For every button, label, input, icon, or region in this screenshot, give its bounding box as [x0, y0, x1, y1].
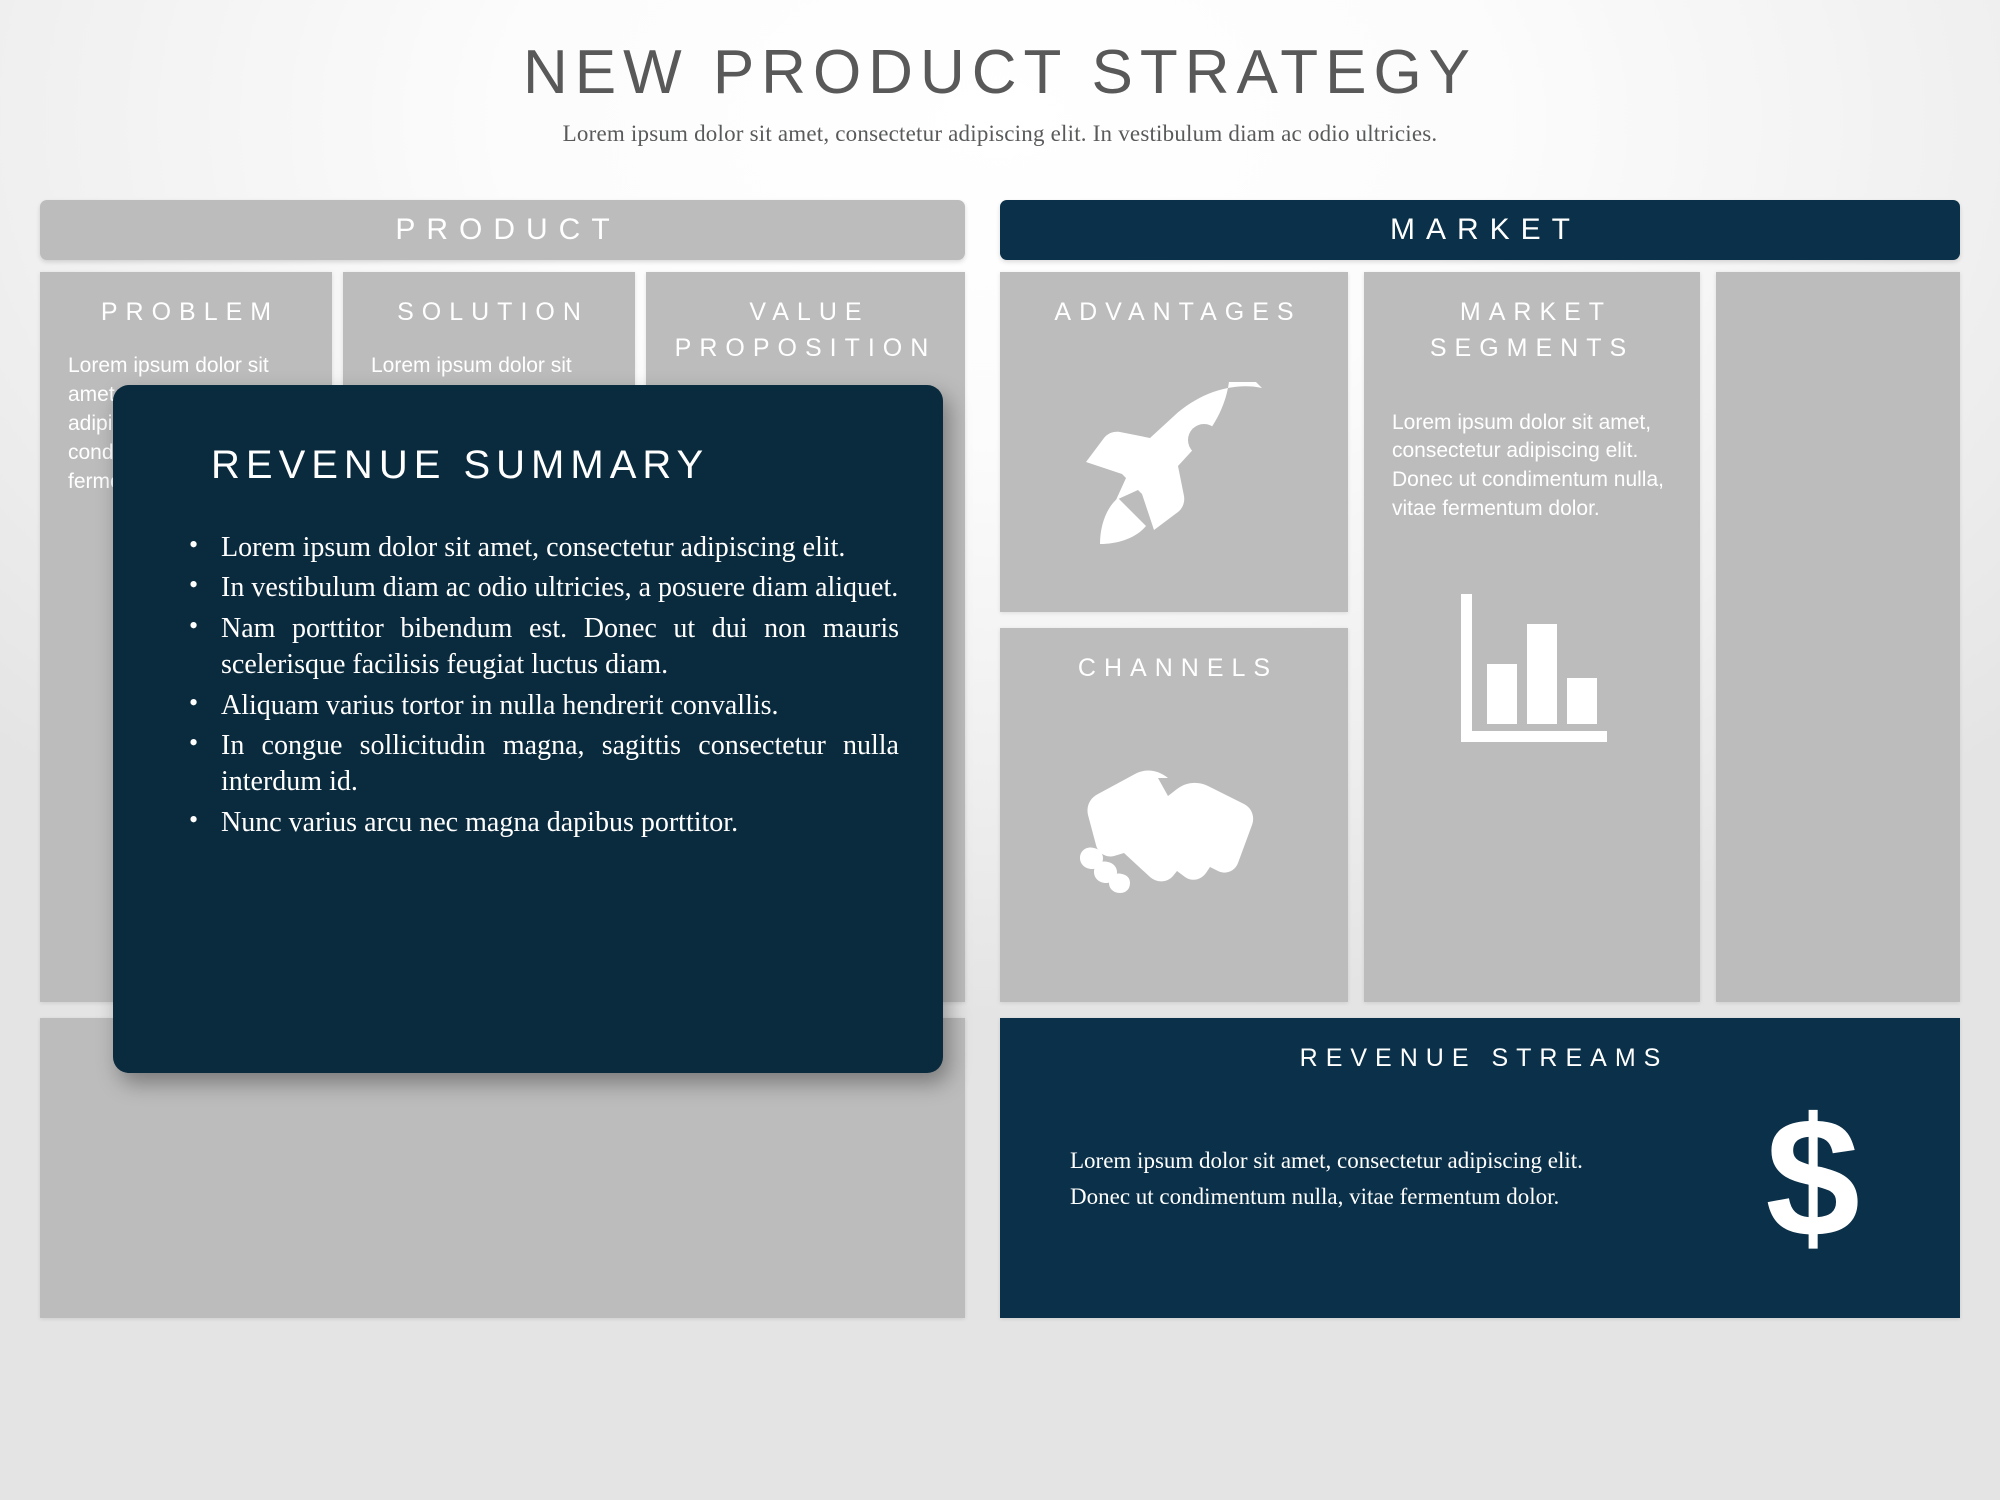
list-item: In vestibulum diam ac odio ultricies, a … — [185, 570, 899, 606]
handshake-icon — [1000, 756, 1348, 896]
card-advantages[interactable]: ADVANTAGES — [1000, 272, 1348, 612]
card-revenue-streams[interactable]: REVENUE STREAMS Lorem ipsum dolor sit am… — [1000, 1018, 1960, 1318]
section-header-market-label: MARKET — [1379, 213, 1581, 247]
rocket-icon — [1000, 382, 1348, 552]
page-title: NEW PRODUCT STRATEGY — [0, 40, 2000, 105]
card-value-proposition-title: VALUE PROPOSITION — [646, 272, 965, 367]
card-solution-title: SOLUTION — [343, 272, 635, 330]
card-market-segments-title: MARKET SEGMENTS — [1364, 272, 1700, 367]
card-problem-title: PROBLEM — [40, 272, 332, 330]
card-channels[interactable]: CHANNELS — [1000, 628, 1348, 1002]
bar-chart-icon — [1364, 586, 1700, 756]
card-revenue-streams-title: REVENUE STREAMS — [1000, 1018, 1960, 1076]
section-header-product: PRODUCT — [40, 200, 965, 260]
card-market-segments-body: Lorem ipsum dolor sit amet, consectetur … — [1364, 409, 1700, 525]
section-header-product-label: PRODUCT — [384, 213, 620, 247]
card-revenue-streams-body: Lorem ipsum dolor sit amet, consectetur … — [1070, 1143, 1590, 1214]
revenue-summary-modal[interactable]: REVENUE SUMMARY Lorem ipsum dolor sit am… — [113, 385, 943, 1073]
revenue-summary-bullet-list: Lorem ipsum dolor sit amet, consectetur … — [161, 530, 899, 841]
card-channels-title: CHANNELS — [1000, 628, 1348, 686]
card-advantages-title: ADVANTAGES — [1000, 272, 1348, 330]
page-header: NEW PRODUCT STRATEGY Lorem ipsum dolor s… — [0, 0, 2000, 147]
card-right-strip — [1716, 272, 1960, 1002]
list-item: Lorem ipsum dolor sit amet, consectetur … — [185, 530, 899, 566]
page-subtitle: Lorem ipsum dolor sit amet, consectetur … — [0, 121, 2000, 147]
section-header-market: MARKET — [1000, 200, 1960, 260]
list-item: Aliquam varius tortor in nulla hendrerit… — [185, 688, 899, 724]
list-item: Nam porttitor bibendum est. Donec ut dui… — [185, 611, 899, 684]
revenue-summary-modal-title: REVENUE SUMMARY — [161, 415, 899, 488]
card-market-segments[interactable]: MARKET SEGMENTS Lorem ipsum dolor sit am… — [1364, 272, 1700, 1002]
dollar-icon: $ — [1765, 1102, 1860, 1255]
list-item: In congue sollicitudin magna, sagittis c… — [185, 728, 899, 801]
list-item: Nunc varius arcu nec magna dapibus portt… — [185, 805, 899, 841]
